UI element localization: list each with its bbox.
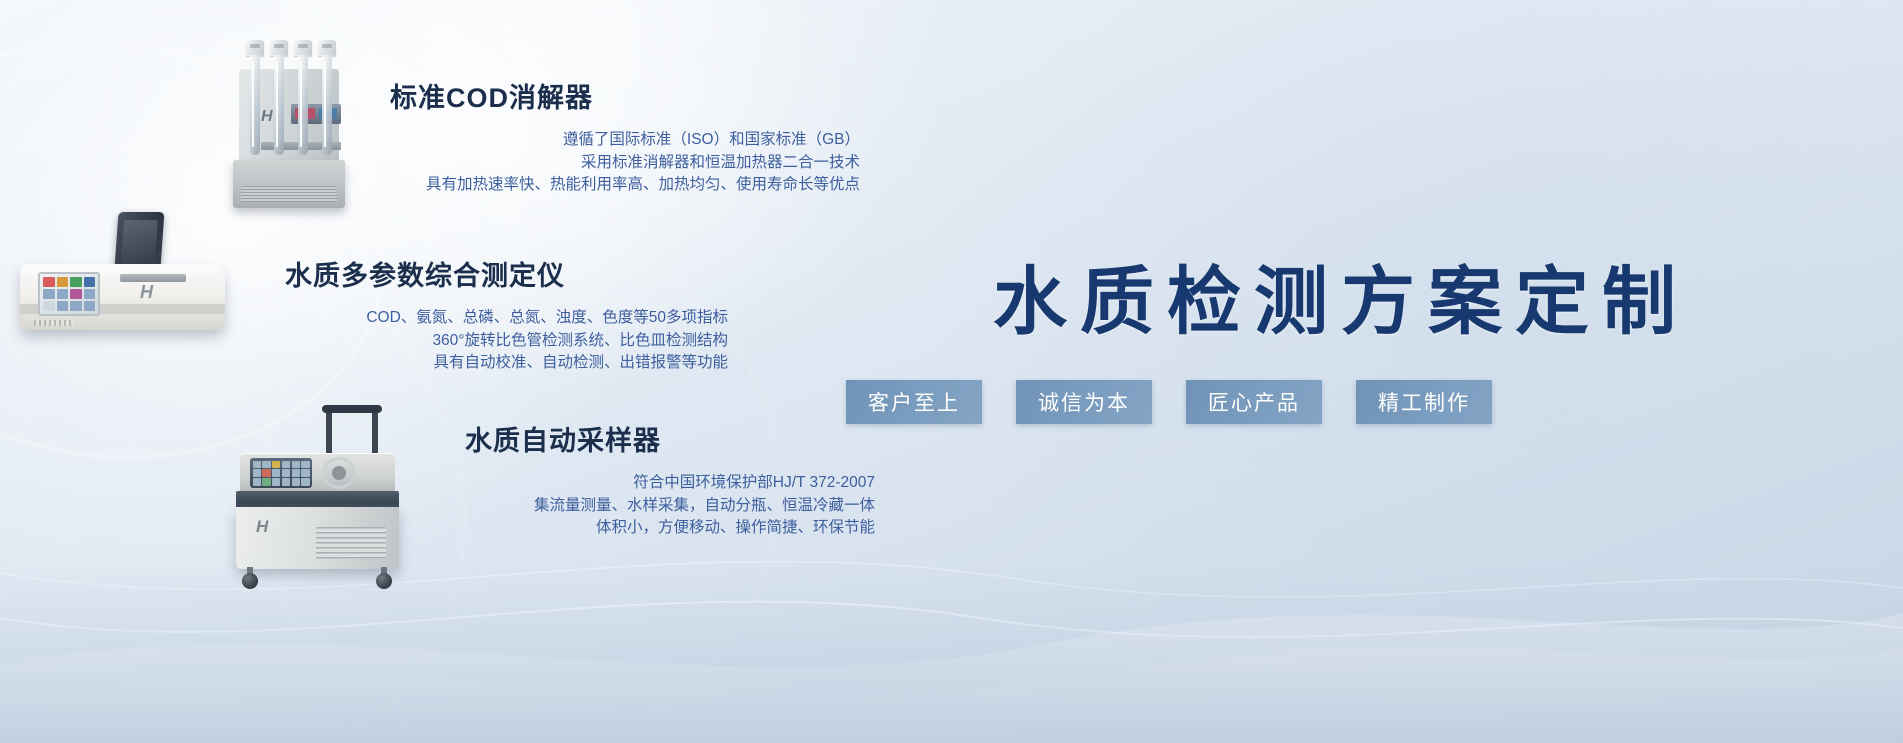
product-description-line: 体积小，方便移动、操作简捷、环保节能: [465, 517, 875, 540]
product-text-block: 水质多参数综合测定仪 COD、氨氮、总磷、总氮、浊度、色度等50多项指标 360…: [285, 254, 735, 375]
peristaltic-pump: [322, 457, 356, 489]
cod-digester-device-image: H: [225, 40, 355, 210]
banner-headline-area: 水质检测方案定制 客户至上 诚信为本 匠心产品 精工制作: [843, 0, 1903, 743]
sampler-keypad: [250, 458, 312, 488]
digestion-tube: [269, 40, 289, 168]
digestion-tube: [245, 40, 265, 168]
product-description: COD、氨氮、总磷、总氮、浊度、色度等50多项指标 360°旋转比色管检测系统、…: [285, 307, 728, 375]
feature-tag-customer-first[interactable]: 客户至上: [846, 380, 982, 424]
product-description-line: COD、氨氮、总磷、总氮、浊度、色度等50多项指标: [285, 307, 728, 330]
product-text-block: 水质自动采样器 符合中国环境保护部HJ/T 372-2007 集流量测量、水样采…: [465, 419, 885, 540]
product-description: 遵循了国际标准（ISO）和国家标准（GB） 采用标准消解器和恒温加热器二合一技术…: [390, 129, 860, 197]
feature-tag-list: 客户至上 诚信为本 匠心产品 精工制作: [846, 380, 1492, 424]
brand-logo-mark: H: [140, 282, 153, 303]
product-description-line: 具有加热速率快、热能利用率高、加热均匀、使用寿命长等优点: [390, 174, 860, 197]
product-row-cod-digester: H 标准COD消解器 遵循了国际标准（ISO）和国家标准（GB） 采用标准消: [225, 40, 355, 210]
digestion-tube: [317, 40, 337, 168]
product-description-line: 符合中国环境保护部HJ/T 372-2007: [465, 472, 875, 495]
product-description-line: 360°旋转比色管检测系统、比色皿检测结构: [285, 330, 728, 353]
analyzer-screen: [38, 272, 100, 316]
product-row-auto-sampler: H 水质自动采样器 符合中国环境保护部HJ/T 372-2007 集流量测量、水…: [230, 405, 405, 590]
device-vent: [241, 186, 337, 202]
product-description-line: 集流量测量、水样采集，自动分瓶、恒温冷藏一体: [465, 495, 875, 518]
product-description-line: 采用标准消解器和恒温加热器二合一技术: [390, 152, 860, 175]
product-title: 水质多参数综合测定仪: [285, 254, 735, 293]
feature-tag-craftsmanship[interactable]: 匠心产品: [1186, 380, 1322, 424]
multiparameter-analyzer-device-image: H: [20, 212, 225, 337]
sampler-handle-bar: [322, 405, 382, 413]
product-description-line: 遵循了国际标准（ISO）和国家标准（GB）: [390, 129, 860, 152]
caster-wheel: [242, 567, 258, 589]
device-vent: [34, 320, 74, 326]
feature-tag-integrity[interactable]: 诚信为本: [1016, 380, 1152, 424]
digestion-tube: [293, 40, 313, 168]
caster-wheel: [376, 567, 392, 589]
product-description: 符合中国环境保护部HJ/T 372-2007 集流量测量、水样采集，自动分瓶、恒…: [465, 472, 875, 540]
sample-slot: [120, 274, 186, 282]
feature-tag-precision-manufacturing[interactable]: 精工制作: [1356, 380, 1492, 424]
product-text-block: 标准COD消解器 遵循了国际标准（ISO）和国家标准（GB） 采用标准消解器和恒…: [390, 76, 870, 197]
brand-logo-mark: H: [256, 517, 268, 537]
banner-headline: 水质检测方案定制: [993, 242, 1689, 349]
auto-sampler-device-image: H: [230, 405, 405, 590]
cooling-grill: [316, 527, 386, 559]
product-feature-list: H 标准COD消解器 遵循了国际标准（ISO）和国家标准（GB） 采用标准消: [0, 0, 900, 743]
product-title: 水质自动采样器: [465, 419, 885, 458]
digestion-tubes: [243, 40, 339, 170]
product-title: 标准COD消解器: [390, 76, 870, 115]
water-quality-banner: H 标准COD消解器 遵循了国际标准（ISO）和国家标准（GB） 采用标准消: [0, 0, 1903, 743]
product-description-line: 具有自动校准、自动检测、出错报警等功能: [285, 352, 728, 375]
product-row-multiparameter-analyzer: H 水质多参数综合测定仪 COD、氨氮、总磷、总氮、浊度、色度等50多项指标 3…: [20, 212, 225, 337]
